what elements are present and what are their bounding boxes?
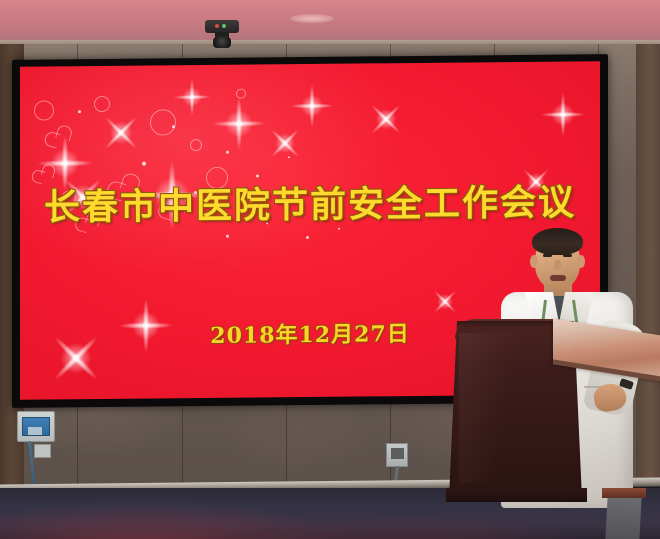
decor-dot — [226, 235, 229, 238]
decor-circle — [190, 139, 202, 151]
podium-top-group — [449, 0, 660, 539]
control-panel-face — [22, 417, 50, 436]
decor-dot — [288, 156, 290, 158]
ceiling-surveillance-camera-icon — [205, 20, 239, 48]
decor-dot — [306, 236, 309, 239]
decor-circle — [150, 109, 176, 135]
photo-scene: 长春市中医院节前安全工作会议 2018年12月27日 — [0, 0, 660, 539]
decor-circle — [236, 89, 246, 99]
camera-led-red — [215, 24, 219, 28]
camera-led-green — [222, 24, 226, 28]
wall-power-socket[interactable] — [386, 443, 408, 467]
decor-dot — [78, 110, 81, 113]
decor-circle — [94, 96, 110, 112]
decor-dot — [338, 228, 340, 230]
podium-foot — [602, 488, 646, 498]
podium-base — [446, 488, 587, 502]
wall-power-socket[interactable] — [34, 444, 51, 458]
decor-dot — [142, 162, 146, 166]
decor-dot — [172, 125, 175, 128]
decor-circle — [34, 100, 54, 120]
camera-lens — [213, 37, 231, 48]
recessed-ceiling-light — [290, 14, 334, 23]
decor-dot — [226, 151, 229, 154]
wall-control-panel[interactable] — [17, 411, 55, 442]
